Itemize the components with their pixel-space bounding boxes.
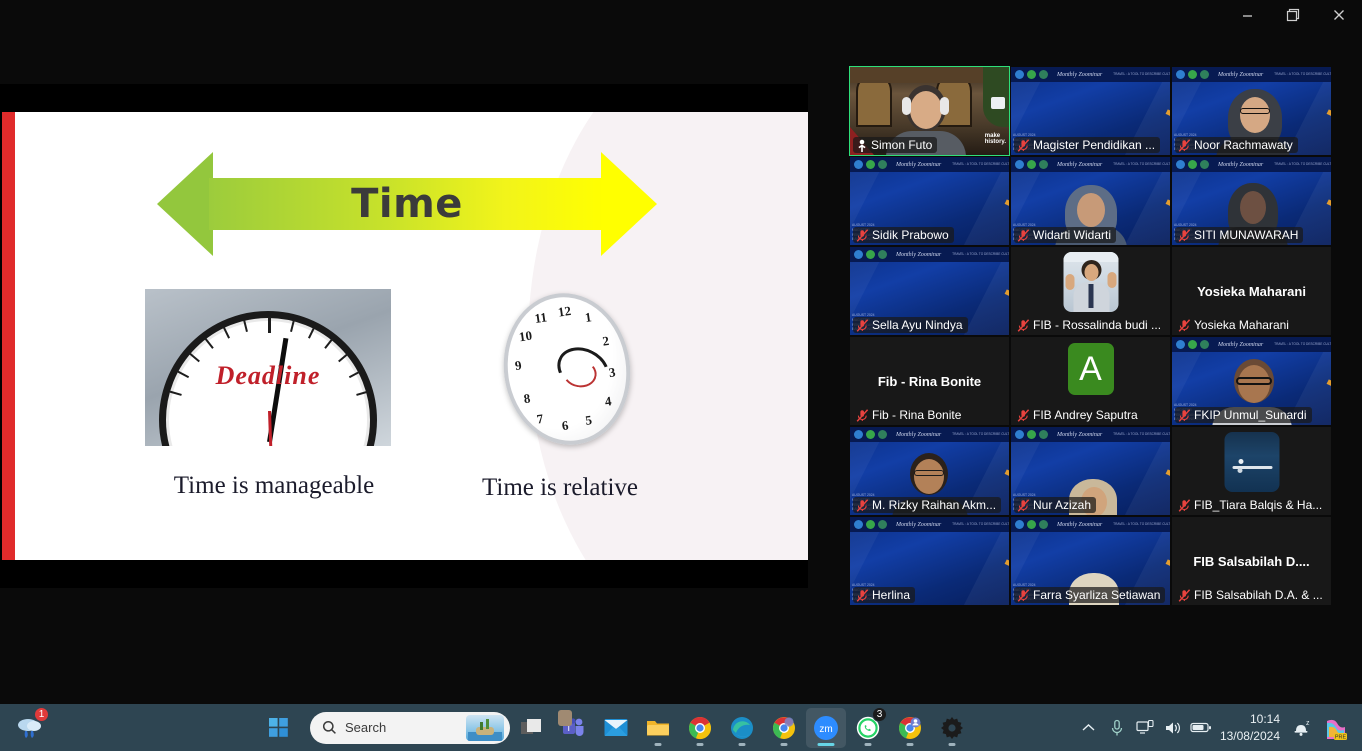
chrome-2-button[interactable]	[764, 708, 804, 748]
microphone-muted-icon	[1178, 499, 1191, 512]
task-view-icon	[521, 718, 543, 738]
participant-tile[interactable]: Monthly ZoominarTRAVEL : A TOOL TO DESCR…	[1011, 157, 1170, 245]
task-view-button[interactable]	[512, 708, 552, 748]
participant-name-text: Yosieka Maharani	[1194, 318, 1289, 332]
chrome-profile-button[interactable]	[890, 708, 930, 748]
chrome-icon	[688, 716, 712, 740]
participant-name-text: Sidik Prabowo	[872, 228, 949, 242]
active-speaker-icon	[856, 139, 868, 152]
microphone-muted-icon	[1178, 229, 1191, 242]
participant-name-label: Nur Azizah	[1014, 497, 1096, 513]
banner-logo-icon	[1039, 70, 1048, 79]
zoom-icon: zm	[813, 715, 839, 741]
participant-name-label: Simon Futo	[853, 137, 937, 153]
participant-name-label: FIB Salsabilah D.A. & ...	[1175, 587, 1328, 603]
participant-tile[interactable]: Monthly ZoominarTRAVEL : A TOOL TO DESCR…	[1011, 427, 1170, 515]
settings-button[interactable]	[932, 708, 972, 748]
participant-name-label: Widarti Widarti	[1014, 227, 1116, 243]
participant-name-label: Noor Rachmawaty	[1175, 137, 1298, 153]
participant-name-text: FIB Andrey Saputra	[1033, 408, 1138, 422]
participant-name-text: Fib - Rina Bonite	[872, 408, 961, 422]
edge-icon	[730, 716, 754, 740]
chrome-button[interactable]	[680, 708, 720, 748]
microphone-muted-icon	[1017, 499, 1030, 512]
network-button[interactable]	[1132, 708, 1158, 748]
participant-name-text: FIB_Tiara Balqis & Ha...	[1194, 498, 1322, 512]
banner-logo-icon	[866, 160, 875, 169]
minimize-button[interactable]	[1224, 0, 1270, 30]
microphone-muted-icon	[1178, 319, 1191, 332]
participant-name-text: SITI MUNAWARAH	[1194, 228, 1298, 242]
search-box[interactable]: Search	[310, 712, 510, 744]
virtual-background-banner: Monthly ZoominarTRAVEL : A TOOL TO DESCR…	[850, 157, 1009, 172]
search-thumbnail-image	[466, 715, 504, 741]
start-button[interactable]	[258, 708, 298, 748]
participant-video-grid[interactable]: makehistory.Simon FutoMonthly ZoominarTR…	[850, 67, 1332, 601]
participant-name-label: FKIP Unmul_Sunardi	[1175, 407, 1312, 423]
participant-name-text: FKIP Unmul_Sunardi	[1194, 408, 1307, 422]
banner-logo-icon	[854, 250, 863, 259]
restore-button[interactable]	[1270, 0, 1316, 30]
virtual-background-banner: Monthly ZoominarTRAVEL : A TOOL TO DESCR…	[850, 517, 1009, 532]
zoom-button[interactable]: zm	[806, 708, 846, 748]
desktop-screen: Time	[0, 0, 1362, 751]
arrow-label: Time	[157, 178, 657, 230]
participant-name-label: SITI MUNAWARAH	[1175, 227, 1303, 243]
chrome-icon	[772, 716, 796, 740]
window-title-bar	[0, 0, 1362, 30]
mic-icon	[1110, 719, 1124, 737]
microphone-muted-icon	[1178, 409, 1191, 422]
participant-name-label: Farra Syarliza Setiawan	[1014, 587, 1165, 603]
participant-name-text: M. Rizky Raihan Akm...	[872, 498, 996, 512]
file-explorer-button[interactable]	[638, 708, 678, 748]
participant-name-label: Fib - Rina Bonite	[853, 407, 966, 423]
slide-accent-stripe	[2, 112, 15, 560]
time-arrow-graphic: Time	[157, 152, 657, 256]
participant-name-text: Farra Syarliza Setiawan	[1033, 588, 1160, 602]
banner-logo-icon	[878, 520, 887, 529]
participant-tile[interactable]: Monthly ZoominarTRAVEL : A TOOL TO DESCR…	[850, 247, 1009, 335]
microphone-muted-icon	[856, 319, 869, 332]
microphone-muted-icon	[1178, 139, 1191, 152]
participant-tile[interactable]: Yosieka MaharaniYosieka Maharani	[1172, 247, 1331, 335]
mail-icon	[604, 718, 628, 737]
banner-script-text: Monthly Zoominar	[896, 522, 941, 528]
gear-icon	[941, 717, 963, 739]
notifications-button[interactable]: z	[1288, 708, 1314, 748]
whatsapp-button[interactable]: 3	[848, 708, 888, 748]
volume-button[interactable]	[1160, 708, 1186, 748]
monitor-icon	[1136, 720, 1154, 735]
microphone-muted-icon	[1017, 229, 1030, 242]
participant-tile[interactable]: FIB - Rossalinda budi ...	[1011, 247, 1170, 335]
folder-icon	[646, 718, 670, 738]
avatar: A	[1068, 343, 1114, 395]
speaker-icon	[1164, 720, 1182, 736]
banner-logo-icon	[866, 520, 875, 529]
chevron-up-icon	[1082, 723, 1095, 732]
battery-icon	[1190, 721, 1212, 734]
windows-taskbar[interactable]: 1 Search	[0, 704, 1362, 751]
banner-logo-icon	[878, 160, 887, 169]
clock-date: 13/08/2024	[1220, 728, 1280, 744]
participant-name-text: Magister Pendidikan ...	[1033, 138, 1155, 152]
microphone-muted-icon	[1178, 589, 1191, 602]
chrome-thumbnail-overlay	[558, 710, 572, 726]
svg-text:PRE: PRE	[1335, 734, 1347, 740]
participant-name-text: FIB Salsabilah D.A. & ...	[1194, 588, 1323, 602]
participant-name-text: Noor Rachmawaty	[1194, 138, 1293, 152]
search-icon	[322, 720, 337, 735]
participant-tile[interactable]: Monthly ZoominarTRAVEL : A TOOL TO DESCR…	[1172, 67, 1331, 155]
participant-name-label: Yosieka Maharani	[1175, 317, 1294, 333]
banner-logo-icon	[1015, 70, 1024, 79]
edge-button[interactable]	[722, 708, 762, 748]
close-button[interactable]	[1316, 0, 1362, 30]
participant-name-text: FIB - Rossalinda budi ...	[1033, 318, 1161, 332]
deadline-clock-image: Deadline	[145, 289, 391, 446]
whatsapp-badge: 3	[872, 707, 887, 722]
banner-small-text: TRAVEL : A TOOL TO DESCRIBE CULTURE DIFF…	[1113, 72, 1170, 76]
bell-icon: z	[1291, 718, 1311, 738]
search-placeholder: Search	[345, 720, 386, 735]
banner-small-text: TRAVEL : A TOOL TO DESCRIBE CULTURE DIFF…	[952, 162, 1009, 166]
banner-logo-icon	[854, 160, 863, 169]
participant-tile[interactable]: Monthly ZoominarTRAVEL : A TOOL TO DESCR…	[1172, 157, 1331, 245]
caption-time-relative: Time is relative	[454, 472, 666, 504]
microphone-muted-icon	[856, 229, 869, 242]
participant-name-text: Nur Azizah	[1033, 498, 1091, 512]
microphone-muted-icon	[856, 409, 869, 422]
banner-logo-icon	[1027, 70, 1036, 79]
participant-tile[interactable]: Monthly ZoominarTRAVEL : A TOOL TO DESCR…	[1172, 337, 1331, 425]
microphone-muted-icon	[1017, 319, 1030, 332]
svg-text:zm: zm	[819, 724, 832, 735]
show-hidden-icons-button[interactable]	[1076, 708, 1102, 748]
banner-small-text: TRAVEL : A TOOL TO DESCRIBE CULTURE DIFF…	[952, 522, 1009, 526]
microphone-muted-icon	[1017, 589, 1030, 602]
taskbar-clock[interactable]: 10:14 13/08/2024	[1220, 711, 1280, 743]
participant-tile[interactable]: Monthly ZoominarTRAVEL : A TOOL TO DESCR…	[850, 517, 1009, 605]
virtual-background-banner: Monthly ZoominarTRAVEL : A TOOL TO DESCR…	[1011, 67, 1170, 82]
svg-text:z: z	[1306, 720, 1310, 727]
banner-logo-icon	[866, 250, 875, 259]
microphone-muted-icon	[856, 589, 869, 602]
microphone-button[interactable]	[1104, 708, 1130, 748]
banner-script-text: Monthly Zoominar	[896, 252, 941, 258]
copilot-icon: PRE	[1323, 715, 1349, 741]
clock-time: 10:14	[1220, 711, 1280, 727]
participant-tile[interactable]: Monthly ZoominarTRAVEL : A TOOL TO DESCR…	[850, 157, 1009, 245]
banner-script-text: Monthly Zoominar	[1057, 72, 1102, 78]
melting-clock-image: 11 12 1 10 2 9 3 8 4 7 6 5	[492, 289, 644, 449]
participant-name-label: Magister Pendidikan ...	[1014, 137, 1160, 153]
background-swoosh-orange	[902, 541, 1009, 605]
caption-time-manageable: Time is manageable	[160, 470, 388, 502]
participant-name-label: M. Rizky Raihan Akm...	[853, 497, 1001, 513]
banner-script-text: Monthly Zoominar	[896, 162, 941, 168]
microphone-muted-icon	[856, 499, 869, 512]
participant-name-label: FIB Andrey Saputra	[1014, 407, 1143, 423]
participant-tile[interactable]: makehistory.Simon Futo	[850, 67, 1009, 155]
melting-clock-face: 11 12 1 10 2 9 3 8 4 7 6 5	[494, 285, 640, 453]
participant-name-label: FIB - Rossalinda budi ...	[1014, 317, 1166, 333]
mail-button[interactable]	[596, 708, 636, 748]
banner-small-text: TRAVEL : A TOOL TO DESCRIBE CULTURE DIFF…	[952, 252, 1009, 256]
participant-name-text: Herlina	[872, 588, 910, 602]
windows-icon	[269, 718, 288, 737]
battery-button[interactable]	[1188, 708, 1214, 748]
participant-name-text: Simon Futo	[871, 138, 932, 152]
participant-tile[interactable]: Monthly ZoominarTRAVEL : A TOOL TO DESCR…	[1011, 517, 1170, 605]
participant-tile[interactable]: FIB Salsabilah D....FIB Salsabilah D.A. …	[1172, 517, 1331, 605]
banner-logo-icon	[854, 520, 863, 529]
participant-name-text: Sella Ayu Nindya	[872, 318, 963, 332]
presentation-slide: Time	[2, 112, 808, 560]
participant-name-label: Herlina	[853, 587, 915, 603]
shared-screen-area[interactable]: Time	[0, 84, 808, 588]
virtual-background-banner: Monthly ZoominarTRAVEL : A TOOL TO DESCR…	[850, 247, 1009, 262]
microphone-muted-icon	[1017, 139, 1030, 152]
participant-tile[interactable]: Monthly ZoominarTRAVEL : A TOOL TO DESCR…	[1011, 67, 1170, 155]
participant-name-label: FIB_Tiara Balqis & Ha...	[1175, 497, 1327, 513]
participant-thumbnail	[1224, 432, 1279, 492]
chrome-profile-icon	[898, 716, 922, 740]
participant-name-label: Sella Ayu Nindya	[853, 317, 968, 333]
participant-name-text: Widarti Widarti	[1033, 228, 1111, 242]
participant-tile[interactable]: AFIB Andrey Saputra	[1011, 337, 1170, 425]
participant-tile[interactable]: FIB_Tiara Balqis & Ha...	[1172, 427, 1331, 515]
banner-logo-icon	[878, 250, 887, 259]
participant-thumbnail	[1063, 252, 1118, 312]
participant-name-label: Sidik Prabowo	[853, 227, 954, 243]
deadline-word: Deadline	[145, 361, 391, 391]
microphone-muted-icon	[1017, 409, 1030, 422]
weather-widget[interactable]: 1	[10, 708, 50, 748]
participant-tile[interactable]: Monthly ZoominarTRAVEL : A TOOL TO DESCR…	[850, 427, 1009, 515]
weather-badge: 1	[34, 707, 49, 722]
participant-tile[interactable]: Fib - Rina BoniteFib - Rina Bonite	[850, 337, 1009, 425]
copilot-button[interactable]: PRE	[1316, 708, 1356, 748]
